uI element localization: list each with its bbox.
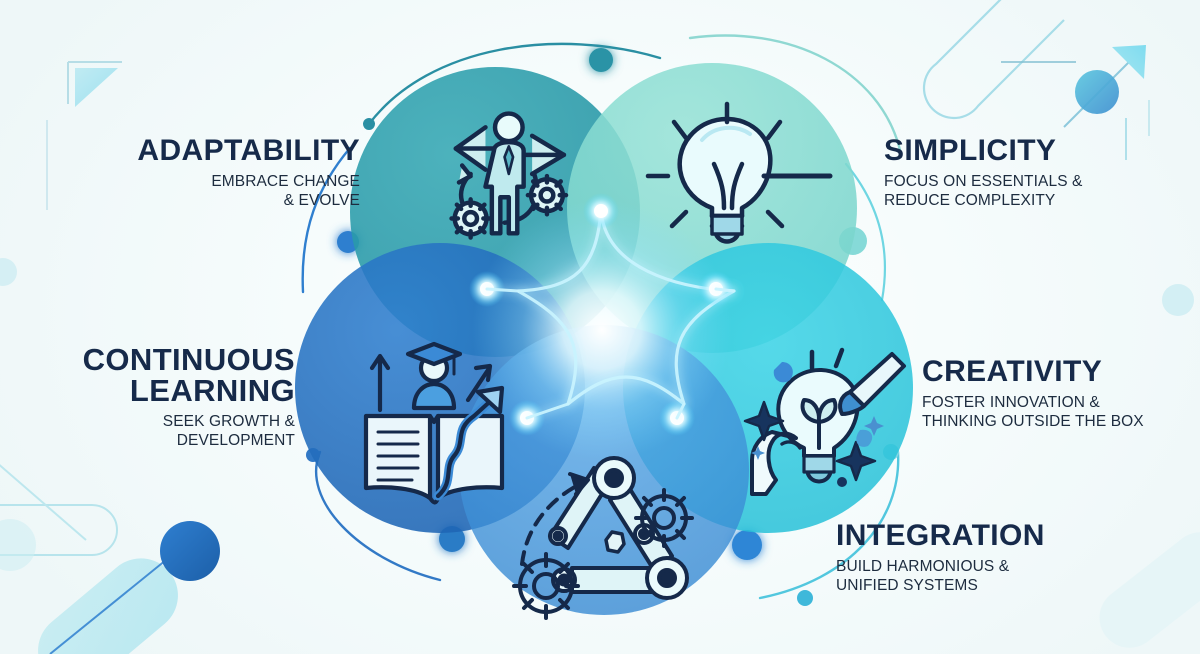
subtitle-line: FOCUS ON ESSENTIALS & bbox=[884, 173, 1164, 192]
label-adaptability: ADAPTABILITY EMBRACE CHANGE & EVOLVE bbox=[110, 136, 360, 211]
infographic-canvas: ADAPTABILITY EMBRACE CHANGE & EVOLVE SIM… bbox=[0, 0, 1200, 654]
label-subtitle-simplicity: FOCUS ON ESSENTIALS & REDUCE COMPLEXITY bbox=[884, 173, 1164, 211]
label-subtitle-creativity: FOSTER INNOVATION & THINKING OUTSIDE THE… bbox=[922, 394, 1192, 432]
subtitle-line: & EVOLVE bbox=[110, 192, 360, 211]
label-subtitle-continuous-learning: SEEK GROWTH & DEVELOPMENT bbox=[30, 413, 295, 451]
subtitle-line: REDUCE COMPLEXITY bbox=[884, 192, 1164, 211]
label-simplicity: SIMPLICITY FOCUS ON ESSENTIALS & REDUCE … bbox=[884, 136, 1164, 211]
label-creativity: CREATIVITY FOSTER INNOVATION & THINKING … bbox=[922, 357, 1192, 432]
label-subtitle-adaptability: EMBRACE CHANGE & EVOLVE bbox=[110, 173, 360, 211]
label-continuous-learning: CONTINUOUS LEARNING SEEK GROWTH & DEVELO… bbox=[30, 344, 295, 451]
label-title-continuous-learning-line1: CONTINUOUS bbox=[30, 344, 295, 375]
subtitle-line: SEEK GROWTH & bbox=[30, 413, 295, 432]
label-title-adaptability: ADAPTABILITY bbox=[110, 136, 360, 166]
subtitle-line: EMBRACE CHANGE bbox=[110, 173, 360, 192]
label-title-continuous-learning-line2: LEARNING bbox=[30, 375, 295, 406]
subtitle-line: DEVELOPMENT bbox=[30, 432, 295, 451]
subtitle-line: UNIFIED SYSTEMS bbox=[836, 577, 1136, 596]
label-title-integration: INTEGRATION bbox=[836, 521, 1136, 551]
label-integration: INTEGRATION BUILD HARMONIOUS & UNIFIED S… bbox=[836, 521, 1136, 596]
label-subtitle-integration: BUILD HARMONIOUS & UNIFIED SYSTEMS bbox=[836, 558, 1136, 596]
subtitle-line: FOSTER INNOVATION & bbox=[922, 394, 1192, 413]
label-title-creativity: CREATIVITY bbox=[922, 357, 1192, 387]
subtitle-line: THINKING OUTSIDE THE BOX bbox=[922, 413, 1192, 432]
subtitle-line: BUILD HARMONIOUS & bbox=[836, 558, 1136, 577]
label-title-simplicity: SIMPLICITY bbox=[884, 136, 1164, 166]
